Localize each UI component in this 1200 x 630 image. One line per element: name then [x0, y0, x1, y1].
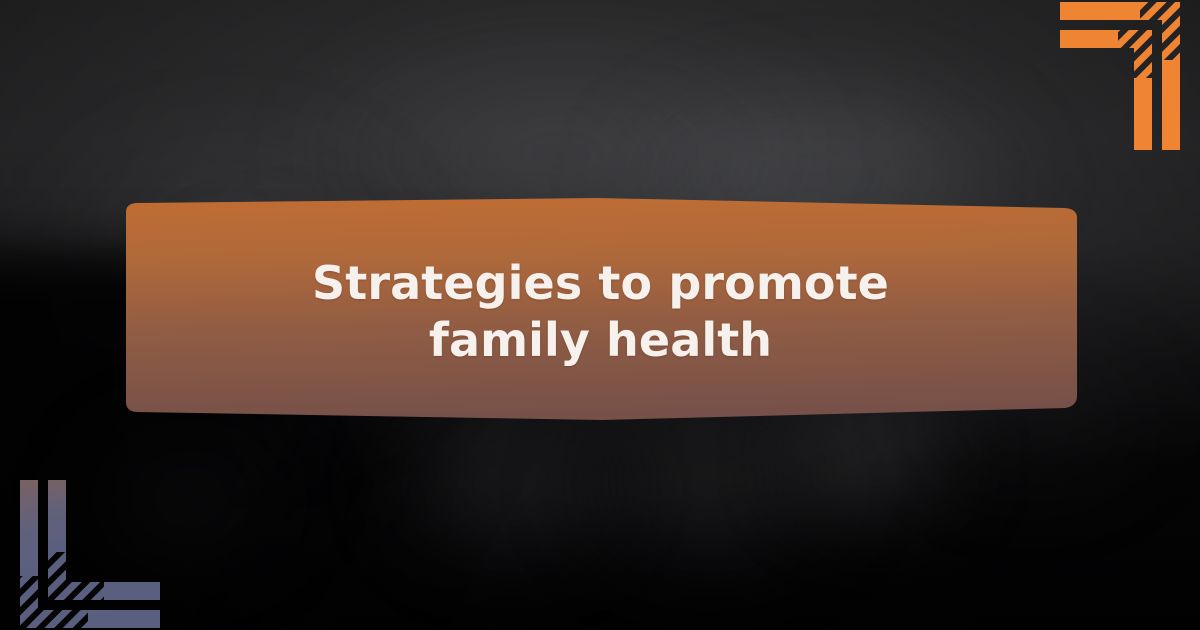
banner-title-line-1: Strategies to promote — [312, 255, 889, 312]
title-banner: Strategies to promote family health — [102, 198, 1099, 426]
banner-title: Strategies to promote family health — [102, 198, 1099, 426]
title-card-canvas: Strategies to promote family health — [0, 0, 1200, 630]
banner-title-line-2: family health — [429, 312, 772, 369]
